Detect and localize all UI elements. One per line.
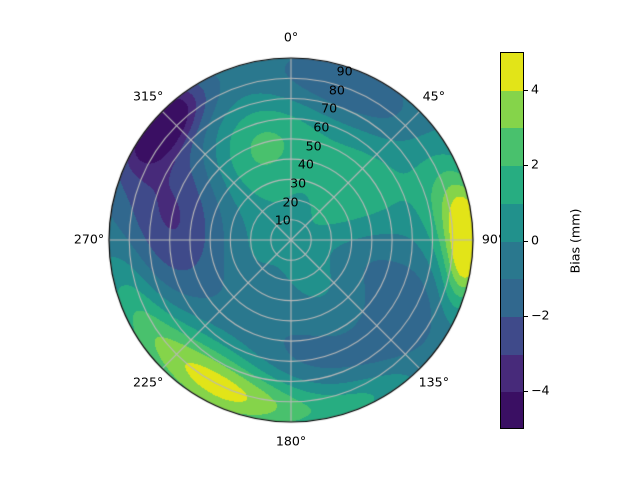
r-tick-90: 90	[337, 66, 353, 79]
colorbar-tick-mark-2	[524, 241, 528, 242]
theta-tick-135: 135°	[419, 377, 449, 390]
colorbar-tick-label-1: −2	[531, 310, 550, 323]
colorbar-band-7	[501, 317, 523, 355]
colorbar-axis-title: Bias (mm)	[570, 208, 583, 273]
r-tick-10: 10	[275, 215, 291, 228]
colorbar-tick-label-4: 4	[531, 83, 539, 96]
colorbar-band-4	[501, 204, 523, 242]
colorbar-tick-mark-1	[524, 316, 528, 317]
colorbar-band-9	[501, 392, 523, 429]
figure-canvas: Delta Antenna Phase Biases: TNVT5 NONE G…	[0, 0, 640, 480]
r-tick-30: 30	[290, 178, 306, 191]
theta-tick-45: 45°	[423, 91, 445, 104]
r-tick-40: 40	[298, 159, 314, 172]
theta-tick-225: 225°	[133, 377, 163, 390]
colorbar-tick-label-0: −4	[531, 385, 550, 398]
theta-tick-180: 180°	[276, 436, 306, 449]
colorbar-band-8	[501, 355, 523, 393]
colorbar-tick-mark-4	[524, 90, 528, 91]
theta-tick-0: 0°	[284, 32, 298, 45]
r-tick-20: 20	[282, 196, 298, 209]
colorbar-band-3	[501, 166, 523, 204]
colorbar-band-1	[501, 91, 523, 129]
r-tick-50: 50	[306, 140, 322, 153]
colorbar-tick-mark-0	[524, 391, 528, 392]
r-tick-80: 80	[329, 84, 345, 97]
colorbar	[500, 52, 524, 429]
r-tick-60: 60	[313, 122, 329, 135]
colorbar-band-0	[501, 53, 523, 91]
theta-tick-270: 270°	[74, 234, 104, 247]
colorbar-band-2	[501, 128, 523, 166]
theta-tick-315: 315°	[133, 91, 163, 104]
r-tick-70: 70	[321, 103, 337, 116]
colorbar-band-6	[501, 279, 523, 317]
colorbar-tick-mark-3	[524, 165, 528, 166]
colorbar-tick-label-2: 0	[531, 234, 539, 247]
colorbar-tick-label-3: 2	[531, 159, 539, 172]
colorbar-band-5	[501, 242, 523, 280]
